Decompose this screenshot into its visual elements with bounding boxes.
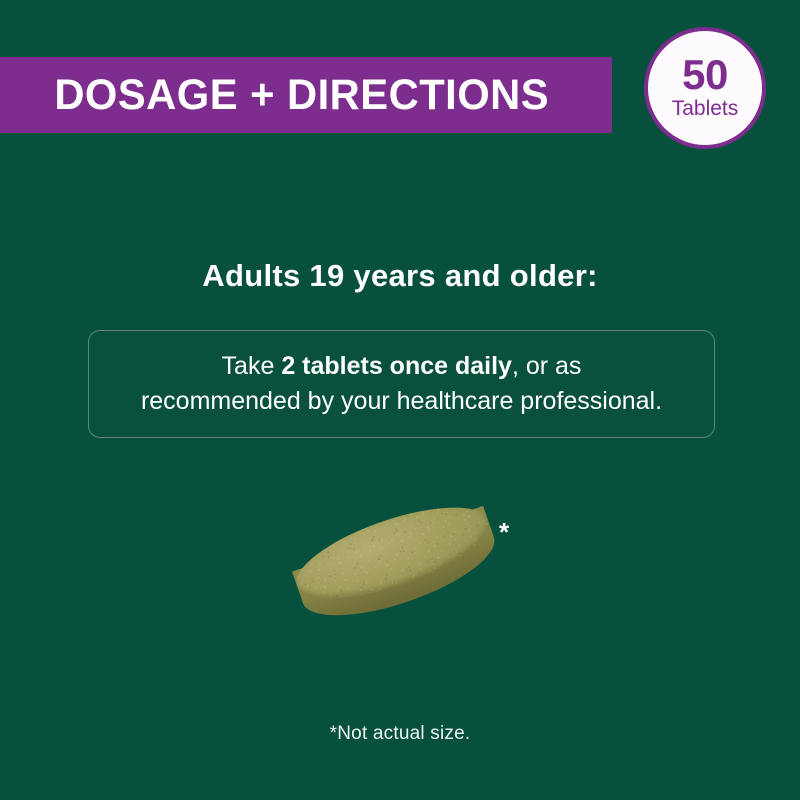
- page-title: DOSAGE + DIRECTIONS: [0, 74, 549, 117]
- tablet-count-badge: 50 Tablets: [644, 27, 766, 149]
- tablet-body: [282, 486, 514, 653]
- badge-count-value: 50: [682, 55, 728, 95]
- instruction-prefix: Take: [222, 352, 282, 380]
- tablet-icon: [293, 517, 503, 621]
- instruction-emphasis: 2 tablets once daily: [281, 352, 512, 380]
- title-banner: DOSAGE + DIRECTIONS: [0, 57, 612, 133]
- instruction-line-2: recommended by your healthcare professio…: [141, 384, 662, 420]
- instruction-line-1: Take 2 tablets once daily, or as: [222, 349, 582, 385]
- header-region: DOSAGE + DIRECTIONS 50 Tablets: [0, 0, 800, 175]
- badge-count-unit: Tablets: [672, 97, 739, 121]
- instruction-panel: Take 2 tablets once daily, or as recomme…: [88, 330, 715, 438]
- audience-heading: Adults 19 years and older:: [0, 258, 800, 294]
- asterisk-marker: *: [499, 519, 509, 545]
- instruction-suffix: , or as: [512, 352, 581, 380]
- tablet-figure: *: [285, 505, 525, 640]
- size-disclaimer-footnote: *Not actual size.: [0, 723, 800, 745]
